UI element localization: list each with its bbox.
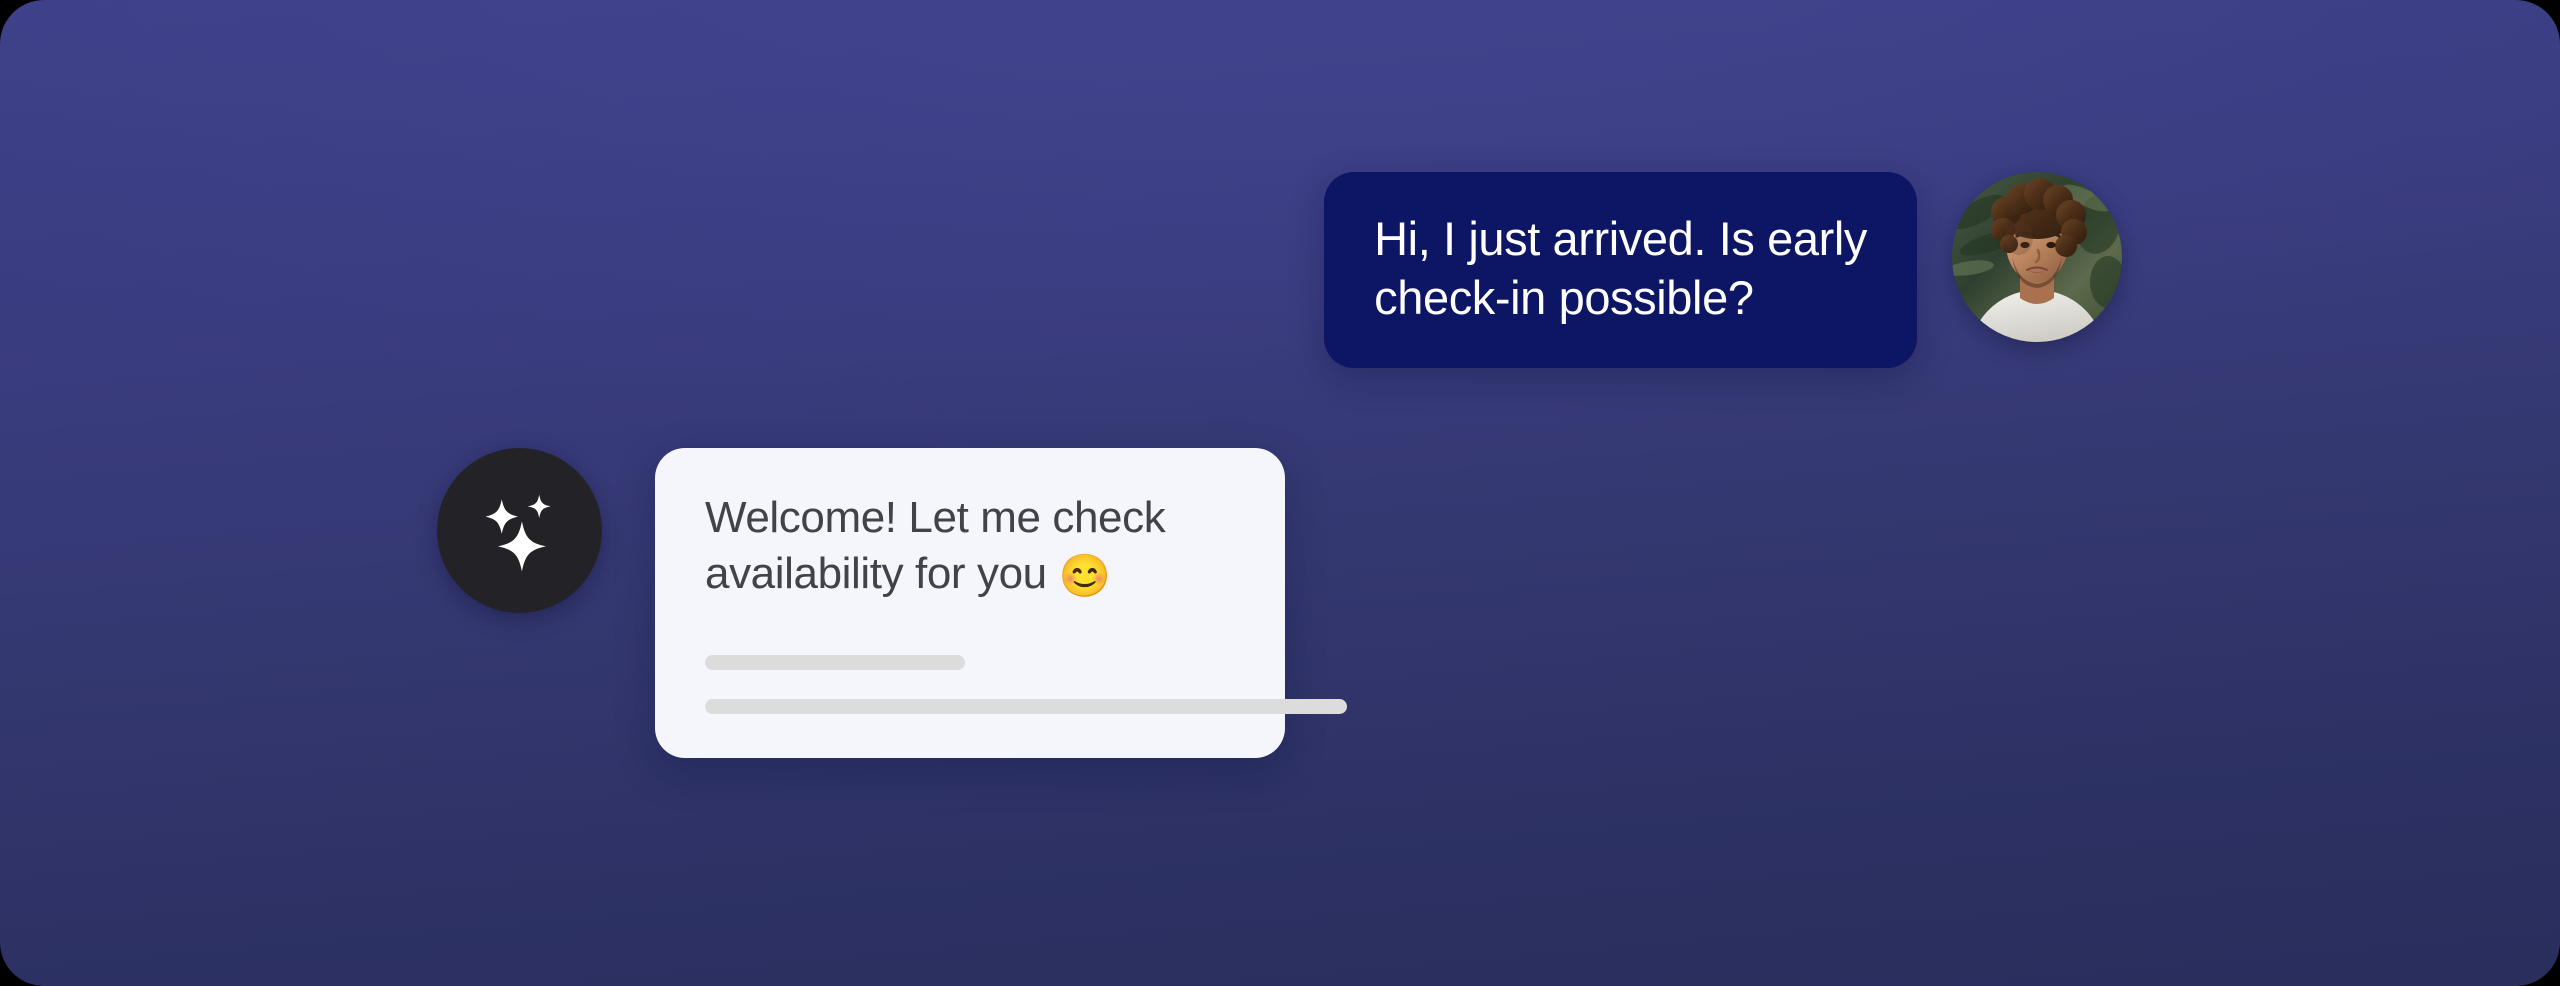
message-row-assistant: Welcome! Let me check availability for y… <box>437 448 1285 758</box>
conversation-thread: Hi, I just arrived. Is early check-in po… <box>0 0 2560 986</box>
user-message-line-1: Hi, I just arrived. Is early <box>1374 210 1867 269</box>
chat-mockup-stage: Hi, I just arrived. Is early check-in po… <box>0 0 2560 986</box>
smiling-face-emoji: 😊 <box>1059 552 1111 599</box>
user-message-bubble[interactable]: Hi, I just arrived. Is early check-in po… <box>1324 172 1917 368</box>
message-row-user: Hi, I just arrived. Is early check-in po… <box>0 172 2560 368</box>
assistant-message-text: Welcome! Let me check availability for y… <box>705 490 1235 603</box>
skeleton-bar-1 <box>705 655 965 670</box>
assistant-message-card[interactable]: Welcome! Let me check availability for y… <box>655 448 1285 758</box>
skeleton-bar-2 <box>705 699 1347 714</box>
ai-sparkles-icon[interactable] <box>437 448 602 613</box>
user-message-line-2: check-in possible? <box>1374 269 1867 328</box>
user-photo-avatar[interactable] <box>1952 172 2122 342</box>
assistant-typing-skeleton <box>705 655 1235 714</box>
